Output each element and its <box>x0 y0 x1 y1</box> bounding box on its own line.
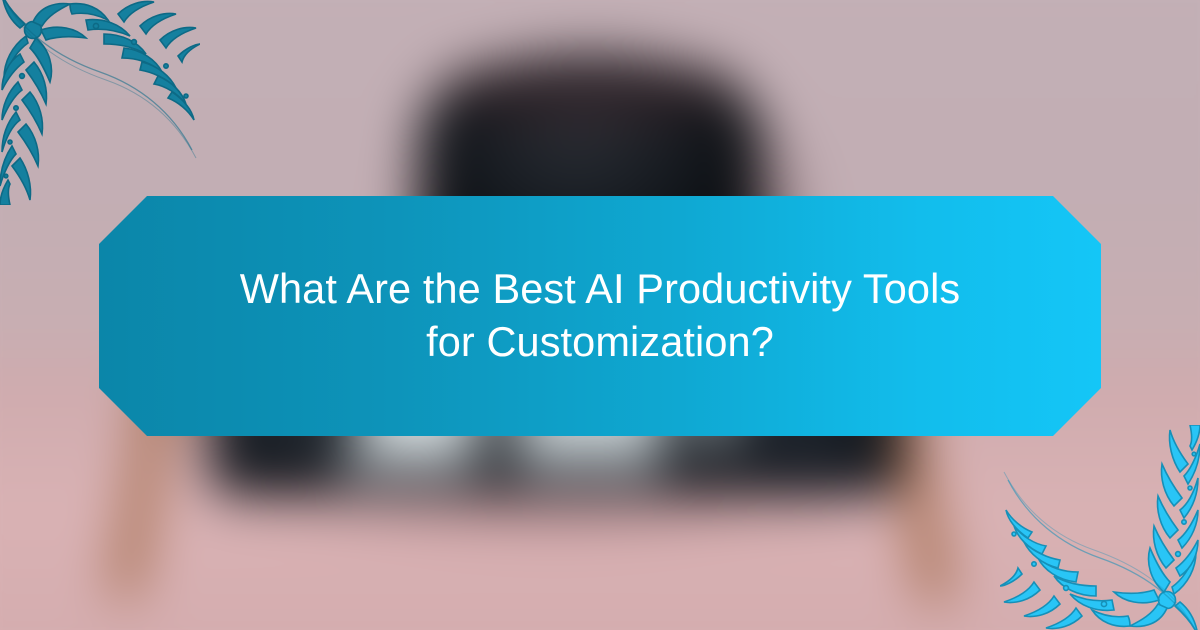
graphic-canvas: What Are the Best AI Productivity Tools … <box>0 0 1200 630</box>
title-banner: What Are the Best AI Productivity Tools … <box>99 196 1101 436</box>
page-title: What Are the Best AI Productivity Tools … <box>210 263 990 368</box>
camera-lens-rim <box>440 58 740 128</box>
